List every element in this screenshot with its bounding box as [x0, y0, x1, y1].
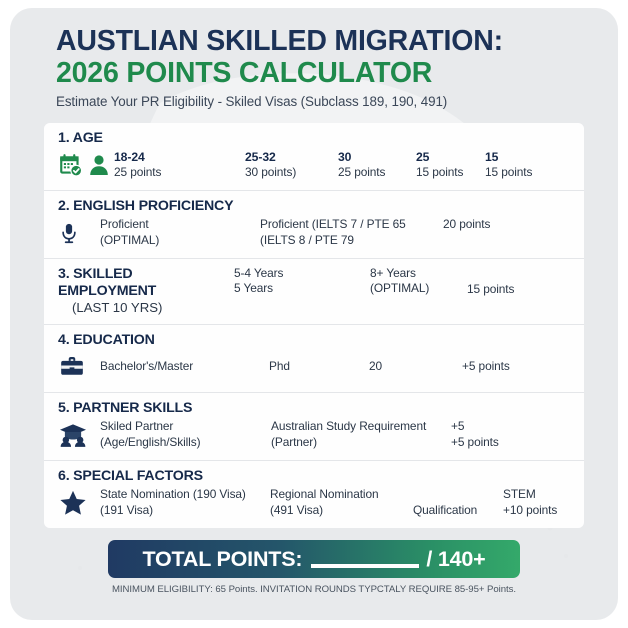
english-col-1: Proficient (OPTIMAL) [100, 217, 260, 249]
english-col-3-top: 20 points [443, 217, 523, 233]
total-points-input-blank[interactable] [311, 550, 419, 568]
section-special-factors-row: State Nomination (190 Visa) (191 Visa) R… [58, 486, 570, 520]
partner-col-1-bottom: (Age/English/Skills) [100, 435, 271, 451]
card-content: AUSTLIAN SKILLED MIGRATION: 2026 POINTS … [10, 8, 618, 595]
section-age: 1. AGE [44, 123, 584, 191]
age-col-3-bottom: 25 points [338, 165, 416, 181]
infographic-card: AUSTLIAN SKILLED MIGRATION: 2026 POINTS … [10, 8, 618, 620]
page-title-line2: 2026 POINTS CALCULATOR [56, 58, 594, 89]
age-col-3-top: 30 [338, 149, 416, 165]
section-partner-skills-heading: 5. PARTNER SKILLS [58, 400, 570, 417]
employment-col-2-bottom: (OPTIMAL) [370, 281, 467, 297]
section-skilled-employment-heading: 3. SKILLED EMPLOYMENT (LAST 10 YRS) [58, 266, 234, 317]
employment-col-3-top: 15 points [467, 282, 547, 298]
section-english-icons [58, 216, 100, 250]
special-col-3: Qualification [413, 487, 503, 519]
skilled-employment-title: 3. SKILLED EMPLOYMENT [58, 266, 234, 300]
age-col-4: 25 15 points [416, 149, 485, 181]
special-col-2-bottom: (491 Visa) [270, 503, 413, 519]
total-points-max: / 140+ [426, 547, 485, 572]
page-subtitle: Estimate Your PR Eligibility - Skiled Vi… [56, 94, 594, 109]
special-col-3-bottom: Qualification [413, 503, 503, 519]
age-col-1-bottom: 25 points [114, 165, 245, 181]
partner-col-2-bottom: (Partner) [271, 435, 451, 451]
section-age-icons [58, 148, 114, 182]
education-col-3-top: 20 [369, 359, 462, 375]
special-col-4-top: STEM [503, 487, 583, 503]
partner-col-1: Skiled Partner (Age/English/Skills) [100, 419, 271, 451]
section-english-row: Proficient (OPTIMAL) Proficient (IELTS 7… [58, 216, 570, 250]
total-points-bar[interactable]: TOTAL POINTS: / 140+ [108, 540, 520, 578]
education-col-1-top: Bachelor's/Master [100, 359, 269, 375]
page-title-line1: AUSTLIAN SKILLED MIGRATION: [56, 26, 594, 57]
english-col-2-bottom: (IELTS 8 / PTE 79 [260, 233, 443, 249]
education-col-2-top: Phd [269, 359, 369, 375]
section-english: 2. ENGLISH PROFICIENCY [44, 191, 584, 259]
section-education-icons [58, 350, 100, 384]
partner-col-3-bottom: +5 points [451, 435, 531, 451]
special-col-2-top: Regional Nomination [270, 487, 413, 503]
person-icon [87, 152, 111, 178]
eligibility-footnote: MINIMUM ELIGIBILITY: 65 Points. INVITATI… [34, 584, 594, 595]
age-col-3: 30 25 points [338, 149, 416, 181]
employment-col-1: 5-4 Years 5 Years [234, 266, 370, 298]
education-col-1: Bachelor's/Master [100, 359, 269, 375]
criteria-panel: 1. AGE [44, 123, 584, 529]
section-education-values: Bachelor's/Master Phd 20 +5 points [100, 359, 570, 375]
section-special-factors-icons [58, 486, 100, 520]
section-special-factors-values: State Nomination (190 Visa) (191 Visa) R… [100, 487, 583, 519]
partner-col-2-top: Australian Study Requirement [271, 419, 451, 435]
section-partner-skills-icons [58, 418, 100, 452]
age-col-5-top: 15 [485, 149, 545, 165]
section-special-factors-heading: 6. SPECIAL FACTORS [58, 468, 570, 485]
age-col-2-top: 25-32 [245, 149, 338, 165]
section-partner-skills-row: Skiled Partner (Age/English/Skills) Aust… [58, 418, 570, 452]
special-col-2: Regional Nomination (491 Visa) [270, 487, 413, 519]
section-skilled-employment-row: 3. SKILLED EMPLOYMENT (LAST 10 YRS) 5-4 … [58, 266, 570, 317]
employment-col-2: 8+ Years (OPTIMAL) [370, 266, 467, 298]
section-education: 4. EDUCATION [44, 325, 584, 393]
section-skilled-employment-values: 5-4 Years 5 Years 8+ Years (OPTIMAL) 15 … [234, 266, 570, 298]
microphone-icon [58, 220, 80, 246]
english-col-3: 20 points [443, 217, 523, 233]
age-col-4-bottom: 15 points [416, 165, 485, 181]
partner-col-3: +5 +5 points [451, 419, 531, 451]
education-col-2: Phd [269, 359, 369, 375]
star-icon [58, 489, 88, 517]
section-english-values: Proficient (OPTIMAL) Proficient (IELTS 7… [100, 217, 570, 249]
section-english-heading: 2. ENGLISH PROFICIENCY [58, 198, 570, 215]
special-col-1: State Nomination (190 Visa) (191 Visa) [100, 487, 270, 519]
employment-col-1-top: 5-4 Years [234, 266, 370, 282]
employment-col-2-top: 8+ Years [370, 266, 467, 282]
special-col-4-bottom: +10 points [503, 503, 583, 519]
employment-col-3: 15 points [467, 266, 547, 298]
age-col-5: 15 15 points [485, 149, 545, 181]
calendar-check-icon [58, 152, 84, 178]
special-col-1-top: State Nomination (190 Visa) [100, 487, 270, 503]
section-partner-skills-values: Skiled Partner (Age/English/Skills) Aust… [100, 419, 570, 451]
section-partner-skills: 5. PARTNER SKILLS [44, 393, 584, 461]
section-age-values: 18-24 25 points 25-32 30 points) 30 25 p… [114, 149, 570, 181]
section-special-factors: 6. SPECIAL FACTORS State Nomination [44, 461, 584, 528]
age-col-1: 18-24 25 points [114, 149, 245, 181]
age-col-2-bottom: 30 points) [245, 165, 338, 181]
age-col-4-top: 25 [416, 149, 485, 165]
employment-col-1-bottom: 5 Years [234, 281, 370, 297]
english-col-1-top: Proficient [100, 217, 260, 233]
briefcase-icon [58, 354, 86, 380]
section-education-heading: 4. EDUCATION [58, 332, 570, 349]
special-col-3-top [413, 487, 503, 503]
special-col-1-bottom: (191 Visa) [100, 503, 270, 519]
partner-col-2: Australian Study Requirement (Partner) [271, 419, 451, 451]
section-age-row: 18-24 25 points 25-32 30 points) 30 25 p… [58, 148, 570, 182]
total-points-wrapper: TOTAL POINTS: / 140+ [44, 540, 584, 578]
section-age-heading: 1. AGE [58, 130, 570, 147]
section-skilled-employment: 3. SKILLED EMPLOYMENT (LAST 10 YRS) 5-4 … [44, 259, 584, 326]
education-col-4-top: +5 points [462, 359, 542, 375]
special-col-4: STEM +10 points [503, 487, 583, 519]
total-points-label: TOTAL POINTS: [142, 547, 302, 572]
english-col-2-top: Proficient (IELTS 7 / PTE 65 [260, 217, 443, 233]
skilled-employment-subtitle: (LAST 10 YRS) [58, 300, 234, 317]
age-col-2: 25-32 30 points) [245, 149, 338, 181]
graduation-partners-icon [58, 422, 88, 448]
education-col-3: 20 [369, 359, 462, 375]
section-education-row: Bachelor's/Master Phd 20 +5 points [58, 350, 570, 384]
age-col-5-bottom: 15 points [485, 165, 545, 181]
age-col-1-top: 18-24 [114, 149, 245, 165]
education-col-4: +5 points [462, 359, 542, 375]
english-col-1-bottom: (OPTIMAL) [100, 233, 260, 249]
english-col-2: Proficient (IELTS 7 / PTE 65 (IELTS 8 / … [260, 217, 443, 249]
partner-col-1-top: Skiled Partner [100, 419, 271, 435]
partner-col-3-top: +5 [451, 419, 531, 435]
infographic-page: AUSTLIAN SKILLED MIGRATION: 2026 POINTS … [0, 0, 628, 628]
